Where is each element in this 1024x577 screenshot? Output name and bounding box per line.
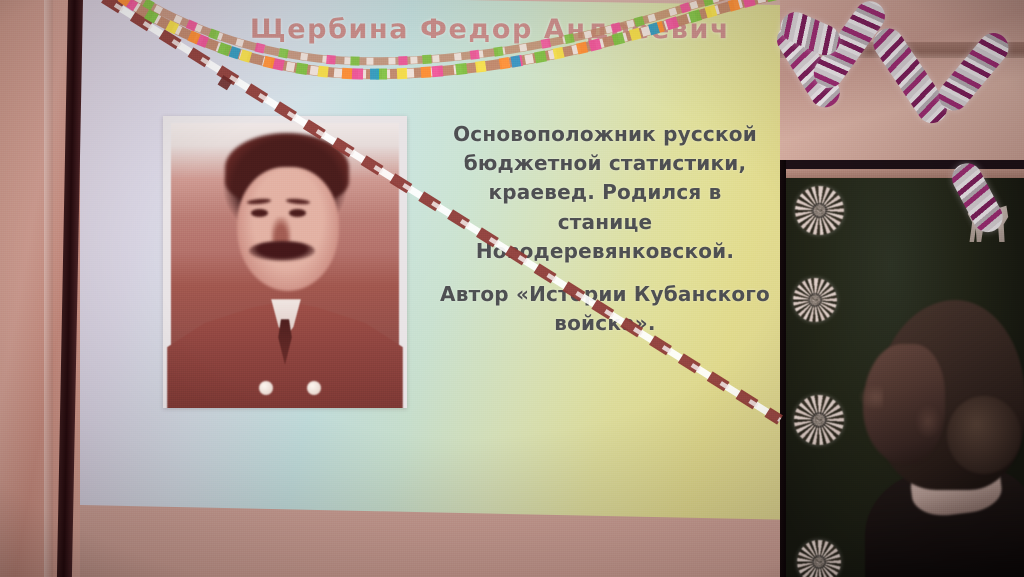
student-nose bbox=[859, 384, 883, 410]
student-hair-bun bbox=[947, 396, 1021, 474]
portrait-eye bbox=[289, 209, 306, 217]
projection-screen: Щербина Федор Андреевич Основоположник р… bbox=[80, 0, 780, 577]
paper-snowflake-icon bbox=[793, 278, 837, 322]
portrait-image bbox=[171, 123, 399, 403]
slide-body: Основоположник русской бюджетной статист… bbox=[440, 120, 770, 338]
paper-snowflake-icon bbox=[794, 395, 844, 445]
student-ear bbox=[915, 404, 941, 438]
portrait-mustache bbox=[249, 241, 315, 261]
paper-snowflake-icon bbox=[797, 540, 841, 577]
blackboard-top-edge bbox=[775, 160, 1024, 169]
classroom-projection-scene: Щербина Федор Андреевич Основоположник р… bbox=[0, 0, 1024, 577]
slide-paragraph-1: Основоположник русской бюджетной статист… bbox=[440, 120, 770, 266]
portrait-coat-button bbox=[307, 381, 321, 395]
slide-title: Щербина Федор Андреевич bbox=[230, 14, 750, 45]
portrait-photo bbox=[163, 116, 407, 408]
portrait-eye bbox=[251, 209, 268, 217]
paper-snowflake-icon bbox=[795, 186, 844, 235]
portrait-nose bbox=[271, 217, 291, 243]
portrait-coat-button bbox=[259, 381, 273, 395]
student-silhouette bbox=[855, 300, 1024, 577]
slide-paragraph-2: Автор «Истории Кубанского войска». bbox=[440, 280, 770, 338]
